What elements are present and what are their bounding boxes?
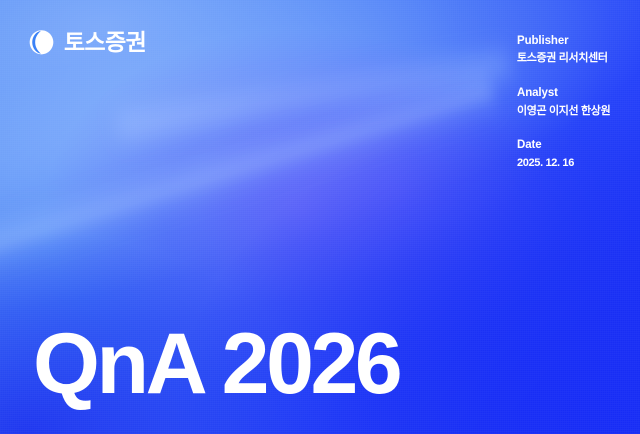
- meta-label-analyst: Analyst: [517, 86, 632, 100]
- meta-value-analyst: 이영곤 이지선 한상원: [517, 105, 632, 119]
- meta-group-date: Date 2025. 12. 16: [517, 138, 632, 170]
- report-cover-slide: 토스증권 Publisher 토스증권 리서치센터 Analyst 이영곤 이지…: [0, 0, 640, 434]
- brand-logo: 토스증권: [28, 29, 146, 56]
- meta-label-publisher: Publisher: [517, 34, 632, 48]
- brand-wordmark: 토스증권: [64, 31, 146, 54]
- meta-group-analyst: Analyst 이영곤 이지선 한상원: [517, 86, 632, 118]
- meta-value-publisher: 토스증권 리서치센터: [517, 52, 632, 66]
- slide-content: 토스증권 Publisher 토스증권 리서치센터 Analyst 이영곤 이지…: [0, 0, 640, 434]
- meta-label-date: Date: [517, 138, 632, 152]
- meta-value-date: 2025. 12. 16: [517, 157, 632, 171]
- toss-securities-logo-mark: [28, 29, 55, 56]
- meta-group-publisher: Publisher 토스증권 리서치센터: [517, 34, 632, 66]
- report-meta-block: Publisher 토스증권 리서치센터 Analyst 이영곤 이지선 한상원…: [517, 34, 632, 170]
- page-title: QnA 2026: [33, 324, 399, 406]
